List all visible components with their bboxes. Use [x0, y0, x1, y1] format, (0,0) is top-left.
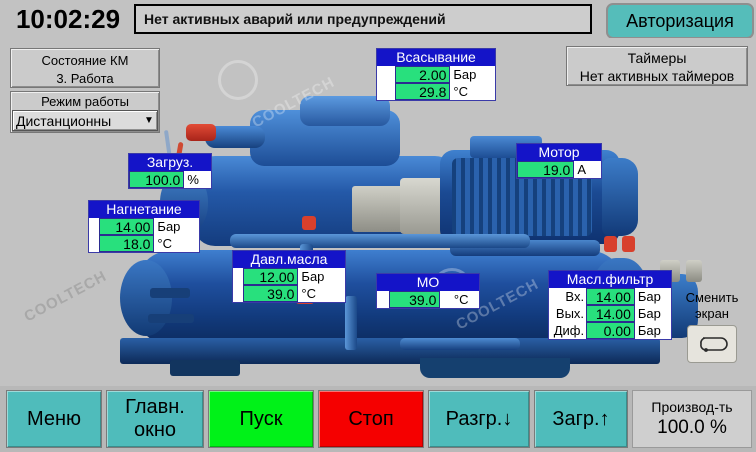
discharge-pressure-unit: Бар [154, 218, 199, 235]
mo-title: МО [377, 274, 479, 291]
capacity-value: 100.0 [657, 417, 705, 438]
mode-title: Режим работы [11, 94, 159, 110]
motor-current-row: 19.0 A [517, 161, 601, 178]
oil-filter-diff-row: Диф. 0.00 Бар [549, 322, 671, 339]
capacity-indicator: Производ-ть 100.0 % [632, 390, 752, 448]
mo-value: 39.0 [389, 291, 441, 308]
capacity-label: Производ-ть [651, 398, 732, 416]
suction-pressure-value: 2.00 [395, 66, 451, 83]
oil-filter-inlet-label: Вх. [549, 288, 586, 305]
discharge-pressure-row: 14.00 Бар [89, 218, 199, 235]
hmi-screen: 10:02:29 Нет активных аварий или предупр… [0, 0, 756, 452]
oil-pressure-value: 12.00 [243, 268, 299, 285]
motor-end-cap [602, 158, 638, 236]
stop-button[interactable]: Стоп [318, 390, 424, 448]
discharge-temperature-value: 18.0 [99, 235, 155, 252]
mo-tag: МО 39.0 °C [376, 273, 480, 309]
oil-filter-tag: Масл.фильтр Вх. 14.00 Бар Вых. 14.00 Бар… [548, 270, 672, 340]
oil-pressure-tag: Давл.масла 12.00 Бар 39.0 °C [232, 250, 346, 303]
load-unit: % [184, 171, 211, 188]
timers-title: Таймеры [567, 49, 747, 67]
bottom-button-bar: Меню Главн. окно Пуск Стоп Разгр.↓ Загр.… [0, 386, 756, 452]
unload-button[interactable]: Разгр.↓ [428, 390, 530, 448]
state-title: Состояние КМ [11, 52, 159, 70]
oil-filter-diff-label: Диф. [549, 322, 586, 339]
suction-tag: Всасывание 2.00 Бар 29.8 °C [376, 48, 496, 101]
oil-filter-title: Масл.фильтр [549, 271, 671, 288]
menu-button[interactable]: Меню [6, 390, 102, 448]
separator-head-left [120, 260, 172, 336]
skid-foot-left [170, 360, 240, 376]
chevron-down-icon: ▼ [141, 115, 157, 126]
process-graphic-area: COOLTECH COOLTECH COOLTECH Состояние КМ … [0, 38, 756, 386]
suction-temperature-row: 29.8 °C [377, 83, 495, 100]
suction-pressure-row: 2.00 Бар [377, 66, 495, 83]
discharge-pressure-value: 14.00 [99, 218, 155, 235]
main-window-button[interactable]: Главн. окно [106, 390, 204, 448]
suction-temperature-unit: °C [450, 83, 495, 100]
start-button[interactable]: Пуск [208, 390, 314, 448]
timers-panel: Таймеры Нет активных таймеров [566, 46, 748, 86]
main-window-label-line2: окно [134, 419, 176, 442]
oil-filter-diff-unit: Бар [635, 322, 671, 339]
compressor-state-panel: Состояние КМ 3. Работа [10, 48, 160, 88]
motor-tag: Мотор 19.0 A [516, 143, 602, 179]
oil-filter-outlet-unit: Бар [635, 305, 671, 322]
mo-value-row: 39.0 °C [377, 291, 479, 308]
suction-pressure-unit: Бар [450, 66, 495, 83]
oil-pressure-unit: Бар [298, 268, 345, 285]
mo-unit: °C [440, 291, 479, 308]
oil-temperature-row: 39.0 °C [233, 285, 345, 302]
red-valve-3 [604, 236, 617, 252]
suction-valve-cap [186, 124, 216, 141]
oil-pressure-row: 12.00 Бар [233, 268, 345, 285]
oil-filter-outlet-row: Вых. 14.00 Бар [549, 305, 671, 322]
oil-return-pipe [400, 338, 520, 350]
red-valve-2 [302, 216, 316, 230]
oil-temperature-unit: °C [298, 285, 345, 302]
vertical-pipe-2 [345, 296, 357, 350]
filter-element-2 [686, 260, 702, 282]
red-valve-4 [622, 236, 635, 252]
change-screen-control[interactable]: Сменить экран [672, 290, 752, 363]
operating-mode-value: Дистанционны [13, 113, 141, 129]
change-screen-label-line2: экран [672, 306, 752, 322]
bracket-2 [148, 314, 194, 323]
load-value: 100.0 [129, 171, 184, 188]
loop-arrow-icon [695, 334, 729, 354]
oil-filter-diff-value: 0.00 [586, 322, 635, 339]
discharge-temperature-row: 18.0 °C [89, 235, 199, 252]
capacity-unit: % [710, 417, 727, 438]
operating-mode-select[interactable]: Дистанционны ▼ [12, 110, 158, 131]
alarm-status-bar: Нет активных аварий или предупреждений [134, 4, 592, 34]
motor-current-value: 19.0 [517, 161, 574, 178]
horizontal-pipe [230, 234, 530, 248]
load-title: Загруз. [129, 154, 211, 171]
oil-filter-inlet-row: Вх. 14.00 Бар [549, 288, 671, 305]
load-button[interactable]: Загр.↑ [534, 390, 628, 448]
capacity-value-row: 100.0 % [657, 416, 727, 440]
clock-display: 10:02:29 [8, 2, 128, 36]
discharge-tag: Нагнетание 14.00 Бар 18.0 °C [88, 200, 200, 253]
bracket-1 [150, 288, 190, 298]
main-window-label-line1: Главн. [125, 396, 185, 419]
suction-title: Всасывание [377, 49, 495, 66]
top-status-bar: 10:02:29 Нет активных аварий или предупр… [0, 0, 756, 38]
skid-foot-right [420, 358, 570, 378]
oil-filter-inlet-unit: Бар [635, 288, 671, 305]
motor-current-unit: A [574, 161, 601, 178]
discharge-temperature-unit: °C [154, 235, 199, 252]
load-value-row: 100.0 % [129, 171, 211, 188]
oil-temperature-value: 39.0 [243, 285, 299, 302]
authorization-button[interactable]: Авторизация [606, 3, 754, 39]
change-screen-label-line1: Сменить [672, 290, 752, 306]
oil-filter-inlet-value: 14.00 [586, 288, 635, 305]
oil-pressure-title: Давл.масла [233, 251, 345, 268]
oil-filter-outlet-label: Вых. [549, 305, 586, 322]
discharge-title: Нагнетание [89, 201, 199, 218]
suction-temperature-value: 29.8 [395, 83, 451, 100]
timers-value: Нет активных таймеров [567, 67, 747, 85]
oil-filter-outlet-value: 14.00 [586, 305, 635, 322]
load-tag: Загруз. 100.0 % [128, 153, 212, 189]
state-value: 3. Работа [11, 70, 159, 88]
motor-title: Мотор [517, 144, 601, 161]
change-screen-button[interactable] [687, 325, 737, 363]
